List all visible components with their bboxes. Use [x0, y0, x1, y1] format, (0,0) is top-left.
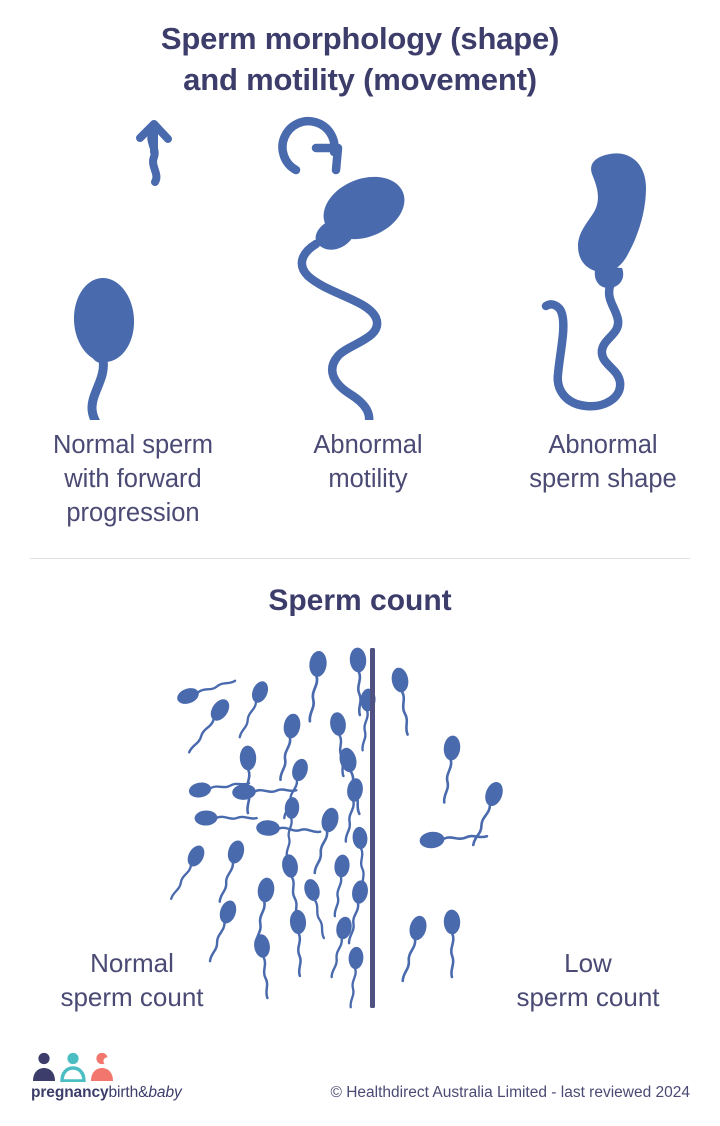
figure-abnormal-motility — [272, 108, 472, 420]
caption-line: Abnormal — [313, 431, 422, 459]
copyright-text: © Healthdirect Australia Limited - last … — [331, 1084, 690, 1102]
caption-line: with forward — [64, 465, 201, 493]
caption-line: progression — [66, 499, 199, 527]
label-line: Normal — [90, 948, 174, 978]
logo-word-baby: baby — [148, 1084, 181, 1101]
caption-abnormal-motility: Abnormal motility — [268, 428, 468, 496]
label-line: sperm count — [60, 982, 203, 1012]
sperm-count-heading: Sperm count — [0, 584, 720, 618]
pregnancy-birth-baby-figures-icon — [30, 1052, 120, 1082]
section-divider — [30, 558, 690, 559]
figure-abnormal-shape — [512, 108, 702, 420]
sperm-abnormal-shape-icon — [512, 108, 702, 420]
infographic-page: Sperm morphology (shape) and motility (m… — [0, 0, 720, 1126]
logo-word-pregnancy: pregnancy — [31, 1084, 109, 1101]
caption-abnormal-shape: Abnormal sperm shape — [500, 428, 706, 496]
figure-normal-sperm — [48, 108, 238, 420]
label-low-sperm-count: Low sperm count — [478, 946, 698, 1014]
sperm-normal-icon — [48, 108, 238, 420]
low-count-cluster — [390, 666, 506, 983]
circular-motion-arrow-icon — [282, 121, 338, 170]
forward-progression-arrow-icon — [140, 124, 168, 182]
page-title-line-2: and motility (movement) — [0, 59, 720, 100]
page-title: Sperm morphology (shape) and motility (m… — [0, 18, 720, 100]
caption-line: motility — [328, 465, 407, 493]
caption-normal-sperm: Normal sperm with forward progression — [30, 428, 236, 530]
morphology-caption-row: Normal sperm with forward progression Ab… — [0, 428, 720, 543]
morphology-figure-row — [0, 108, 720, 420]
sperm-abnormal-motility-icon — [272, 108, 472, 420]
logo-word-birth: birth& — [109, 1084, 149, 1101]
caption-line: sperm shape — [529, 465, 676, 493]
sperm-count-label-row: Normal sperm count Low sperm count — [0, 946, 720, 1026]
page-title-line-1: Sperm morphology (shape) — [161, 21, 559, 56]
label-normal-sperm-count: Normal sperm count — [22, 946, 242, 1014]
caption-line: Normal sperm — [53, 431, 213, 459]
caption-line: Abnormal — [548, 431, 657, 459]
site-logo[interactable]: pregnancybirth&baby — [30, 1052, 230, 1108]
logo-wordmark: pregnancybirth&baby — [31, 1084, 182, 1102]
label-line: sperm count — [516, 982, 659, 1012]
label-line: Low — [564, 948, 612, 978]
footer: pregnancybirth&baby © Healthdirect Austr… — [0, 1048, 720, 1126]
